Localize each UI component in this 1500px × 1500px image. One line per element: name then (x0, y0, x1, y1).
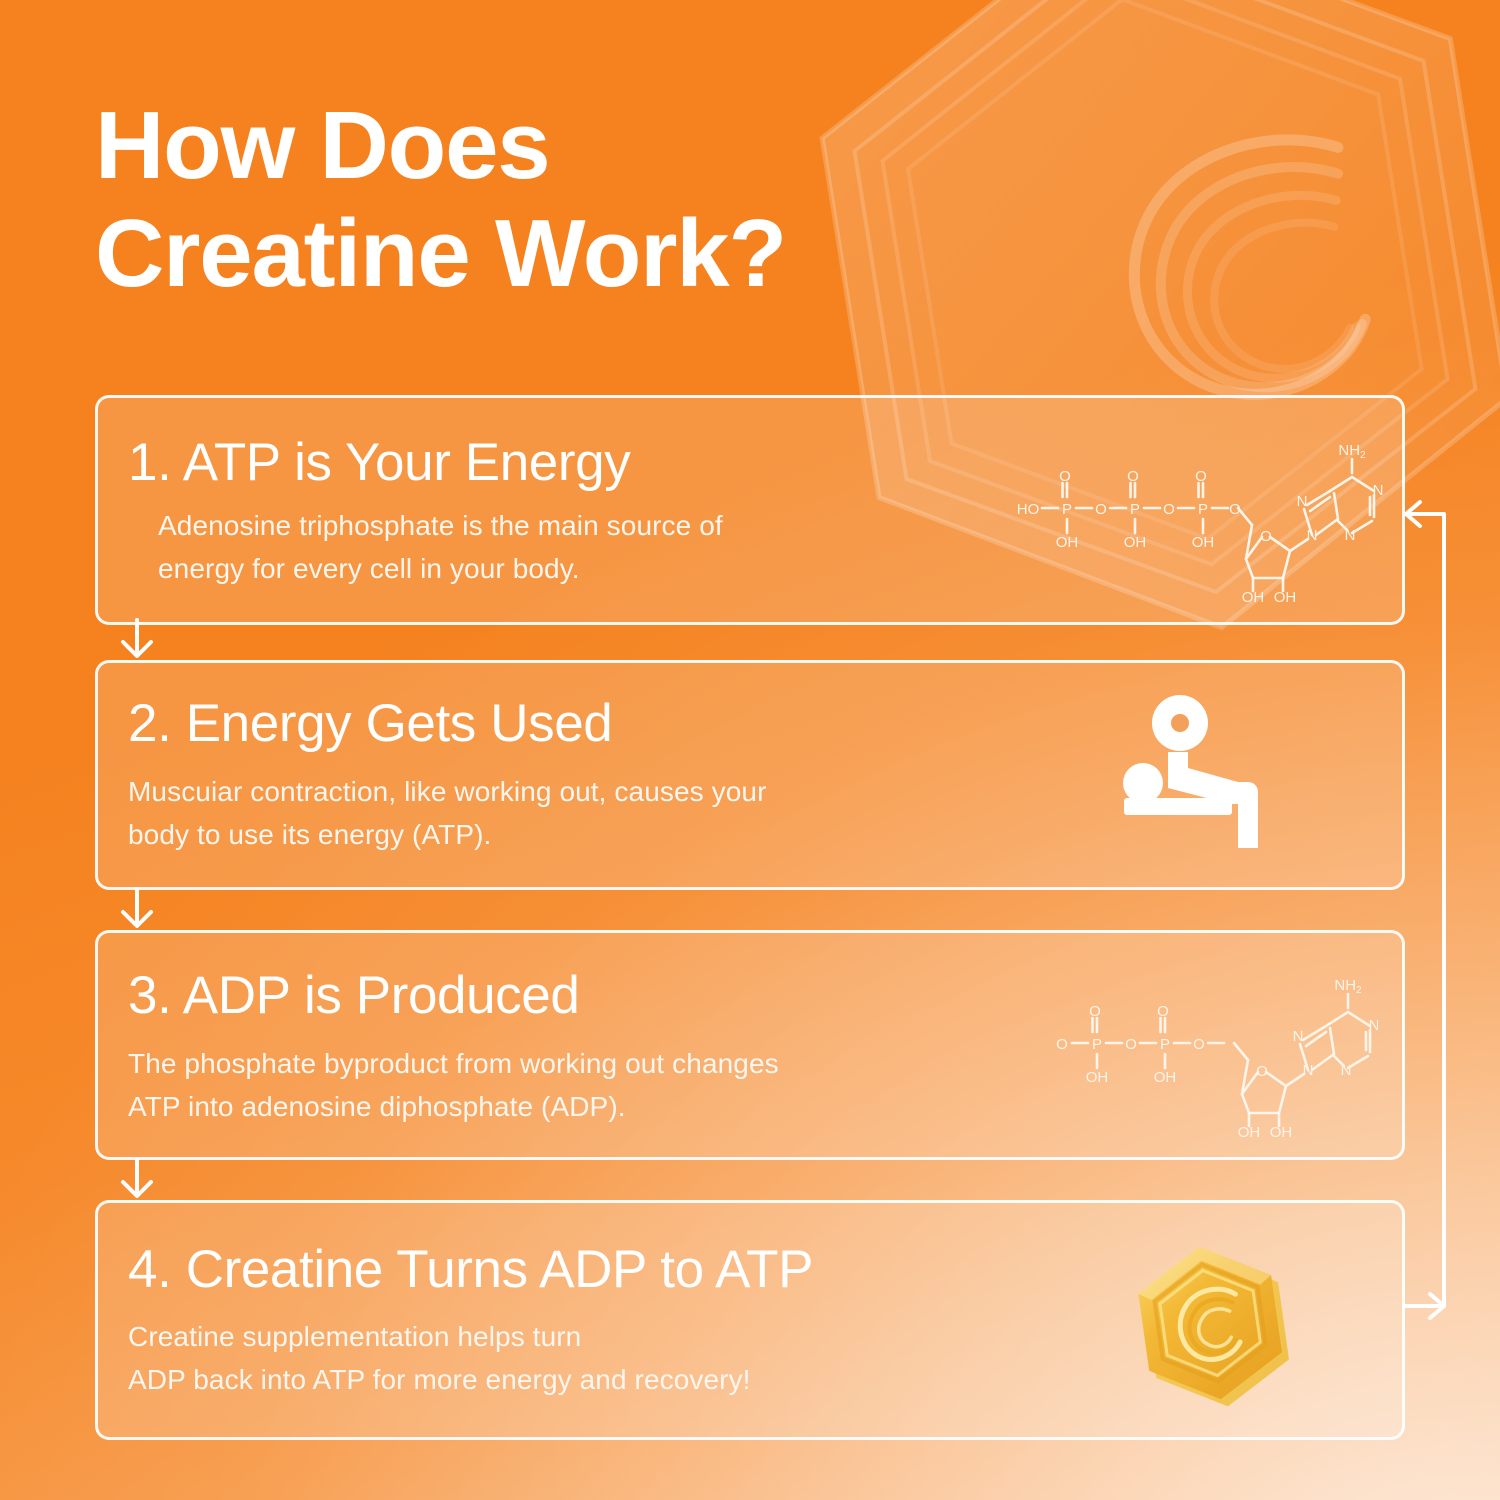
atp-double-bond-o-1: O (1059, 468, 1071, 485)
creatine-hex-badge-icon (1115, 1230, 1305, 1415)
adp-molecule-icon: O P O P O O O OH OH O OH OH N N N N NH2 (1048, 948, 1378, 1138)
bench-press-icon (1118, 690, 1308, 860)
adp-nitrogen-1: N (1293, 1028, 1304, 1045)
adp-phosphorus-2: P (1160, 1036, 1170, 1053)
atp-ring-oxygen: O (1260, 528, 1272, 545)
atp-phosphorus-1: P (1062, 501, 1072, 518)
adp-terminal-label: O (1056, 1036, 1068, 1053)
adp-nitrogen-3: N (1369, 1017, 1378, 1034)
page-title: How Does Creatine Work? (95, 92, 1025, 309)
flow-arrow-down-1 (113, 618, 161, 662)
adp-hydroxyl-2: OH (1154, 1069, 1177, 1086)
adp-double-bond-o-1: O (1089, 1003, 1101, 1020)
step-3-description: The phosphate byproduct from working out… (128, 1043, 779, 1128)
atp-nitrogen-1: N (1297, 493, 1308, 510)
adp-bridge-o-2: O (1193, 1036, 1205, 1053)
step-2-heading: 2. Energy Gets Used (128, 693, 612, 754)
atp-amine-label: NH2 (1338, 442, 1366, 461)
adp-nitrogen-2: N (1303, 1062, 1314, 1079)
atp-bridge-o-1: O (1095, 501, 1107, 518)
step-4-description: Creatine supplementation helps turn ADP … (128, 1316, 751, 1401)
atp-adp-recycle-connector (1398, 480, 1488, 1340)
adp-sugar-oh-2: OH (1270, 1124, 1293, 1138)
adp-ring-oxygen: O (1256, 1063, 1268, 1080)
adp-sugar-oh-1: OH (1238, 1124, 1261, 1138)
atp-molecule-icon: HO P O P O P O O O O OH OH OH O OH OH N … (1000, 413, 1390, 603)
atp-phosphorus-2: P (1130, 501, 1140, 518)
atp-double-bond-o-3: O (1195, 468, 1207, 485)
adp-bridge-o-1: O (1125, 1036, 1137, 1053)
step-4-heading: 4. Creatine Turns ADP to ATP (128, 1239, 813, 1300)
adp-nitrogen-4: N (1341, 1062, 1352, 1079)
adp-amine-label: NH2 (1334, 977, 1362, 996)
atp-sugar-oh-1: OH (1242, 589, 1265, 603)
step-1-heading: 1. ATP is Your Energy (128, 432, 630, 493)
flow-arrow-down-3 (113, 1158, 161, 1202)
atp-sugar-oh-2: OH (1274, 589, 1297, 603)
atp-nitrogen-3: N (1373, 482, 1384, 499)
atp-nitrogen-2: N (1307, 527, 1318, 544)
atp-nitrogen-4: N (1345, 527, 1356, 544)
step-3-heading: 3. ADP is Produced (128, 965, 579, 1026)
atp-hydroxyl-1: OH (1056, 534, 1079, 551)
atp-terminal-label: HO (1017, 501, 1040, 518)
atp-phosphorus-3: P (1198, 501, 1208, 518)
adp-phosphorus-1: P (1092, 1036, 1102, 1053)
atp-hydroxyl-2: OH (1124, 534, 1147, 551)
atp-double-bond-o-2: O (1127, 468, 1139, 485)
adp-double-bond-o-2: O (1157, 1003, 1169, 1020)
atp-bridge-o-2: O (1163, 501, 1175, 518)
flow-arrow-down-2 (113, 888, 161, 932)
atp-bridge-o-3: O (1229, 501, 1241, 518)
atp-hydroxyl-3: OH (1192, 534, 1215, 551)
step-2-description: Muscuiar contraction, like working out, … (128, 771, 767, 856)
step-1-description: Adenosine triphosphate is the main sourc… (158, 505, 723, 590)
adp-hydroxyl-1: OH (1086, 1069, 1109, 1086)
